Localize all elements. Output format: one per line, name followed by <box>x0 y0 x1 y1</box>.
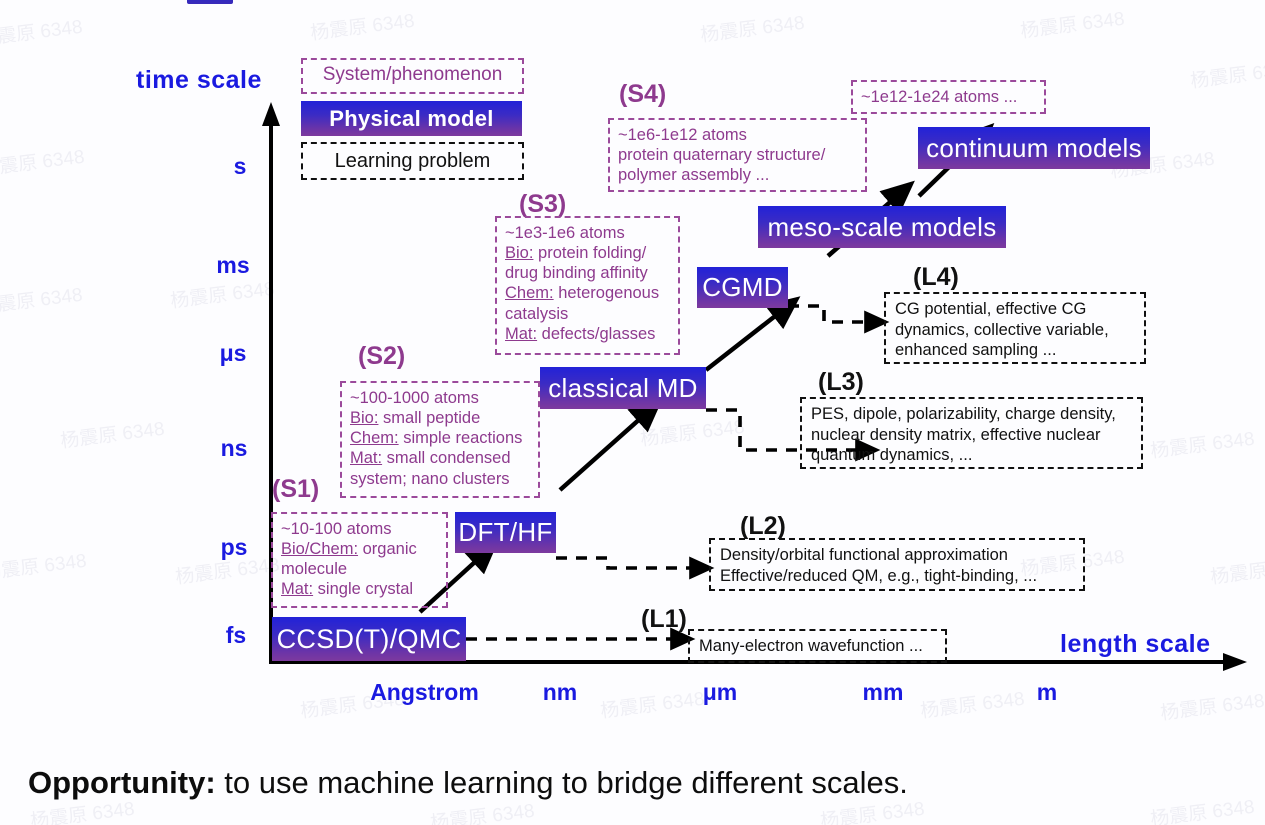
system-box-s1: ~10-100 atoms Bio/Chem: organic molecule… <box>271 512 448 608</box>
model-box-dft[interactable]: DFT/HF <box>455 512 556 553</box>
l3-line-1: nuclear density matrix, effective nuclea… <box>811 425 1133 446</box>
model-box-ccsd[interactable]: CCSD(T)/QMC <box>272 617 466 661</box>
s3-line-4: catalysis <box>505 304 671 324</box>
model-label-continuum: continuum models <box>926 133 1142 164</box>
s2-line-0: ~100-1000 atoms <box>350 388 531 408</box>
tag-l4: (L4) <box>913 263 959 292</box>
legend-model-label: Physical model <box>329 106 493 132</box>
model-label-classical-md: classical MD <box>548 373 698 404</box>
caption-rest: to use machine learning to bridge differ… <box>216 765 908 800</box>
l1-line-0: Many-electron wavefunction ... <box>699 636 937 657</box>
l4-line-0: CG potential, effective CG <box>895 299 1136 320</box>
tag-l2: (L2) <box>740 512 786 541</box>
tag-s4: (S4) <box>619 80 666 109</box>
tag-s3: (S3) <box>519 190 566 219</box>
model-label-cgmd: CGMD <box>702 272 783 303</box>
s2-line-4: system; nano clusters <box>350 469 531 489</box>
l3-line-2: quantum dynamics, ... <box>811 445 1133 466</box>
legend-model-box: Physical model <box>301 101 522 136</box>
system-box-s4: ~1e6-1e12 atoms protein quaternary struc… <box>608 118 867 192</box>
l2-line-1: Effective/reduced QM, e.g., tight-bindin… <box>720 566 1075 587</box>
s2-line-1: Bio: small peptide <box>350 408 531 428</box>
l4-line-1: dynamics, collective variable, <box>895 320 1136 341</box>
s3-line-3: Chem: heterogenous <box>505 283 671 303</box>
s3-line-2: drug binding affinity <box>505 263 671 283</box>
y-tick-ns: ns <box>208 435 260 462</box>
watermark: 杨震原 6348 <box>0 142 86 182</box>
system-box-s2: ~100-1000 atoms Bio: small peptide Chem:… <box>340 381 540 498</box>
watermark: 杨震原 6348 <box>1189 54 1265 94</box>
s3-line-1: Bio: protein folding/ <box>505 243 671 263</box>
legend-learning-label: Learning problem <box>335 150 491 172</box>
l2-line-0: Density/orbital functional approximation <box>720 545 1075 566</box>
s2-line-2: Chem: simple reactions <box>350 428 531 448</box>
l4-line-2: enhanced sampling ... <box>895 340 1136 361</box>
model-box-meso[interactable]: meso-scale models <box>758 206 1006 248</box>
learning-box-l1: Many-electron wavefunction ... <box>688 629 947 663</box>
x-tick-mm: mm <box>848 679 918 706</box>
y-tick-us: μs <box>206 340 260 367</box>
watermark: 杨震原 6348 <box>0 12 84 52</box>
s1-line-3: Mat: single crystal <box>281 579 439 599</box>
model-label-dft: DFT/HF <box>458 517 552 548</box>
y-tick-s: s <box>220 153 260 180</box>
diagram-canvas: 杨震原 6348 杨震原 6348 杨震原 6348 杨震原 6348 杨震原 … <box>0 0 1265 825</box>
s1-line-0: ~10-100 atoms <box>281 519 439 539</box>
watermark: 杨震原 6348 <box>1159 686 1265 726</box>
watermark: 杨震原 6348 <box>699 8 806 48</box>
model-box-classical-md[interactable]: classical MD <box>540 367 706 409</box>
s1-line-1: Bio/Chem: organic <box>281 539 439 559</box>
legend-system-label: System/phenomenon <box>323 64 503 85</box>
watermark: 杨震原 6348 <box>1019 4 1126 44</box>
watermark: 杨震原 6348 <box>0 280 84 320</box>
tag-s2: (S2) <box>358 342 405 371</box>
tag-l1: (L1) <box>641 605 687 634</box>
tag-s1: (S1) <box>272 475 319 504</box>
y-tick-ms: ms <box>206 252 260 279</box>
s5-line-0: ~1e12-1e24 atoms ... <box>861 87 1037 107</box>
s4-line-0: ~1e6-1e12 atoms <box>618 125 858 145</box>
watermark: 杨震原 6348 <box>169 274 276 314</box>
watermark: 杨震原 6348 <box>0 546 88 586</box>
caption-bold: Opportunity: <box>28 765 216 800</box>
model-box-cgmd[interactable]: CGMD <box>697 267 788 308</box>
x-tick-m: m <box>1012 679 1082 706</box>
model-label-ccsd: CCSD(T)/QMC <box>277 624 462 655</box>
x-tick-angstrom: Angstrom <box>352 679 497 706</box>
learning-box-l3: PES, dipole, polarizability, charge dens… <box>800 397 1143 469</box>
y-axis-title: time scale <box>136 66 262 95</box>
cropped-box-sliver <box>187 0 233 4</box>
watermark: 杨震原 6348 <box>309 6 416 46</box>
s4-line-1: protein quaternary structure/ <box>618 145 858 165</box>
system-box-s5: ~1e12-1e24 atoms ... <box>851 80 1046 114</box>
x-axis-title: length scale <box>1060 630 1211 659</box>
legend-learning-box: Learning problem <box>301 142 524 180</box>
learning-box-l2: Density/orbital functional approximation… <box>709 538 1085 591</box>
legend-system-box: System/phenomenon <box>301 58 524 94</box>
s2-line-3: Mat: small condensed <box>350 448 531 468</box>
watermark: 杨震原 6348 <box>1209 550 1265 590</box>
learning-box-l4: CG potential, effective CG dynamics, col… <box>884 292 1146 364</box>
watermark: 杨震原 6348 <box>639 412 746 452</box>
l3-line-0: PES, dipole, polarizability, charge dens… <box>811 404 1133 425</box>
x-tick-um: μm <box>685 679 755 706</box>
tag-l3: (L3) <box>818 368 864 397</box>
s1-line-2: molecule <box>281 559 439 579</box>
s3-line-5: Mat: defects/glasses <box>505 324 671 344</box>
s3-line-0: ~1e3-1e6 atoms <box>505 223 671 243</box>
watermark: 杨震原 6348 <box>59 414 166 454</box>
s4-line-2: polymer assembly ... <box>618 165 858 185</box>
watermark: 杨震原 6348 <box>919 684 1026 724</box>
caption: Opportunity: to use machine learning to … <box>28 765 1238 801</box>
x-tick-nm: nm <box>525 679 595 706</box>
watermark: 杨震原 6348 <box>1149 424 1256 464</box>
model-label-meso: meso-scale models <box>767 212 996 243</box>
y-tick-ps: ps <box>208 534 260 561</box>
y-tick-fs: fs <box>212 622 260 649</box>
model-box-continuum[interactable]: continuum models <box>918 127 1150 169</box>
system-box-s3: ~1e3-1e6 atoms Bio: protein folding/ dru… <box>495 216 680 355</box>
